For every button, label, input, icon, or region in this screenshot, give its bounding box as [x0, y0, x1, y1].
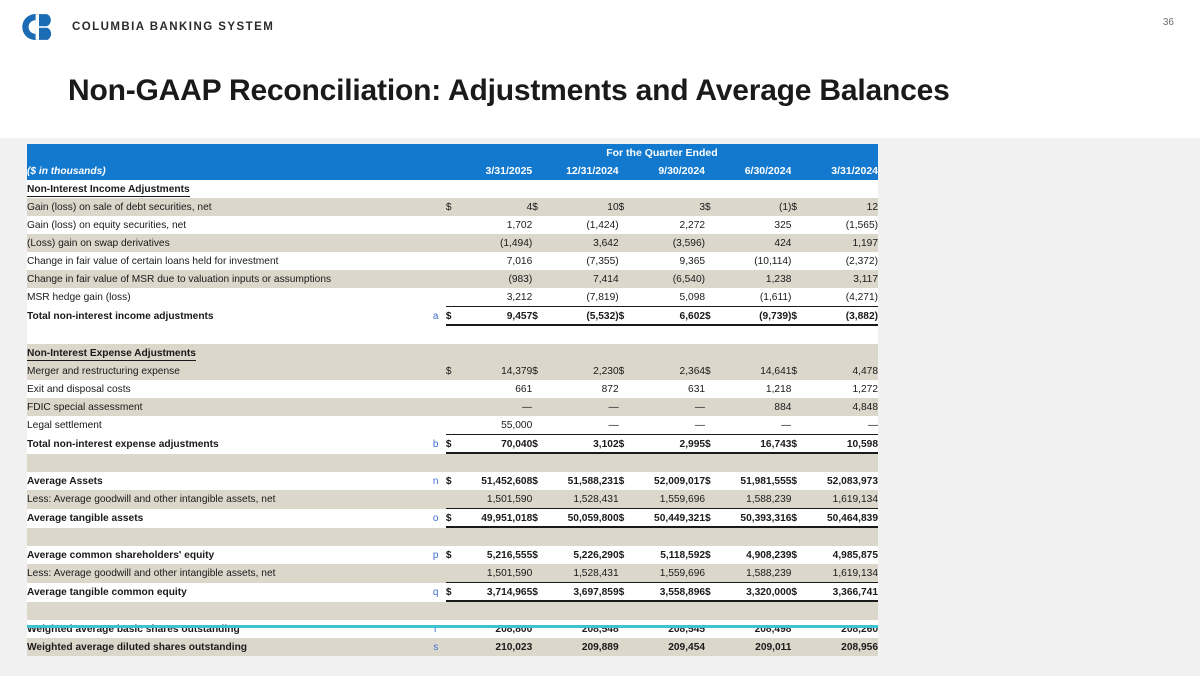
value-cell: 424	[719, 234, 791, 252]
currency-symbol	[705, 638, 719, 656]
currency-symbol	[791, 564, 805, 583]
value-cell: 51,452,608	[460, 472, 532, 490]
column-header-currency-spacer	[619, 162, 633, 180]
table-header-group-row: For the Quarter Ended	[27, 144, 878, 162]
currency-symbol	[532, 234, 546, 252]
value-cell: 2,230	[546, 362, 618, 380]
currency-symbol	[619, 416, 633, 435]
value-cell: 1,238	[719, 270, 791, 288]
value-cell: 16,743	[719, 435, 791, 454]
currency-symbol	[446, 620, 460, 638]
value-cell: (10,114)	[719, 252, 791, 270]
column-header-1: 3/31/2025	[460, 162, 532, 180]
value-cell: 2,995	[633, 435, 705, 454]
currency-symbol: $	[705, 546, 719, 564]
table-row: Gain (loss) on equity securities, net1,7…	[27, 216, 878, 234]
value-cell: 7,414	[546, 270, 618, 288]
currency-symbol	[619, 620, 633, 638]
value-cell: 9,457	[460, 307, 532, 326]
value-cell: 872	[546, 380, 618, 398]
row-reference-letter: b	[426, 435, 446, 454]
currency-symbol: $	[446, 472, 460, 490]
balance-total-row: Average tangible assetso$49,951,018$50,0…	[27, 509, 878, 528]
balance-top-row: Average Assetsn$51,452,608$51,588,231$52…	[27, 472, 878, 490]
currency-symbol: $	[532, 509, 546, 528]
currency-symbol	[791, 270, 805, 288]
currency-symbol: $	[446, 198, 460, 216]
non-gaap-reconciliation-table: For the Quarter Ended($ in thousands)3/3…	[27, 144, 878, 656]
row-reference-letter	[426, 362, 446, 380]
table-header-dates-row: ($ in thousands)3/31/202512/31/20249/30/…	[27, 162, 878, 180]
value-cell: (7,819)	[546, 288, 618, 307]
header-spacer	[27, 144, 426, 162]
value-cell: (1,611)	[719, 288, 791, 307]
table-row: Change in fair value of certain loans he…	[27, 252, 878, 270]
value-cell: (1,494)	[460, 234, 532, 252]
value-cell: 4,848	[806, 398, 878, 416]
row-spacer	[27, 602, 878, 621]
currency-symbol: $	[532, 362, 546, 380]
currency-symbol: $	[619, 583, 633, 602]
value-cell: 1,528,431	[546, 490, 618, 509]
currency-symbol	[705, 380, 719, 398]
value-cell: (1,565)	[806, 216, 878, 234]
value-cell: 3,366,741	[806, 583, 878, 602]
value-cell: 210,023	[460, 638, 532, 656]
currency-symbol	[446, 252, 460, 270]
cb-monogram-icon	[18, 12, 60, 42]
currency-symbol	[791, 416, 805, 435]
value-cell: 1,588,239	[719, 564, 791, 583]
value-cell: 208,956	[806, 638, 878, 656]
row-label: Total non-interest income adjustments	[27, 307, 426, 326]
row-label: FDIC special assessment	[27, 398, 426, 416]
value-cell: 9,365	[633, 252, 705, 270]
table-body: For the Quarter Ended($ in thousands)3/3…	[27, 144, 878, 656]
value-cell: 4,985,875	[806, 546, 878, 564]
value-cell: 2,272	[633, 216, 705, 234]
value-cell: 208,800	[460, 620, 532, 638]
currency-symbol: $	[705, 307, 719, 326]
value-cell: (983)	[460, 270, 532, 288]
column-header-5: 3/31/2024	[806, 162, 878, 180]
value-cell: 208,548	[546, 620, 618, 638]
value-cell: 52,009,017	[633, 472, 705, 490]
section-heading: Non-Interest Expense Adjustments	[27, 344, 426, 362]
currency-symbol	[705, 620, 719, 638]
currency-symbol: $	[705, 583, 719, 602]
row-label: Average common shareholders' equity	[27, 546, 426, 564]
value-cell: 884	[719, 398, 791, 416]
row-reference-letter	[426, 234, 446, 252]
currency-symbol: $	[446, 307, 460, 326]
row-label: Average tangible common equity	[27, 583, 426, 602]
row-reference-letter	[426, 288, 446, 307]
value-cell: (2,372)	[806, 252, 878, 270]
currency-symbol	[619, 564, 633, 583]
row-label: MSR hedge gain (loss)	[27, 288, 426, 307]
currency-symbol	[446, 270, 460, 288]
value-cell: 4,478	[806, 362, 878, 380]
row-reference-letter	[426, 216, 446, 234]
value-cell: 50,393,316	[719, 509, 791, 528]
currency-symbol	[705, 416, 719, 435]
currency-symbol: $	[532, 472, 546, 490]
currency-symbol: $	[446, 546, 460, 564]
currency-symbol	[705, 216, 719, 234]
currency-symbol	[619, 288, 633, 307]
value-cell: 51,981,555	[719, 472, 791, 490]
slide-header: COLUMBIA BANKING SYSTEM 36	[0, 0, 1200, 56]
currency-symbol	[446, 398, 460, 416]
value-cell: 4,908,239	[719, 546, 791, 564]
currency-symbol: $	[619, 435, 633, 454]
slide-root: COLUMBIA BANKING SYSTEM 36 Non-GAAP Reco…	[0, 0, 1200, 676]
currency-symbol: $	[705, 509, 719, 528]
section-heading-text: Non-Interest Income Adjustments	[27, 184, 190, 197]
section-heading-filler	[426, 344, 878, 362]
value-cell: 2,364	[633, 362, 705, 380]
row-label: Gain (loss) on sale of debt securities, …	[27, 198, 426, 216]
row-reference-letter: p	[426, 546, 446, 564]
row-label: Legal settlement	[27, 416, 426, 435]
currency-symbol	[532, 416, 546, 435]
currency-symbol: $	[791, 435, 805, 454]
table-row: (Loss) gain on swap derivatives(1,494)3,…	[27, 234, 878, 252]
value-cell: (7,355)	[546, 252, 618, 270]
column-header-currency-spacer	[532, 162, 546, 180]
row-spacer-cell	[27, 326, 878, 345]
column-header-4: 6/30/2024	[719, 162, 791, 180]
value-cell: 3,102	[546, 435, 618, 454]
row-spacer	[27, 326, 878, 345]
currency-symbol	[619, 234, 633, 252]
value-cell: (1,424)	[546, 216, 618, 234]
row-spacer-cell	[27, 528, 878, 547]
row-spacer	[27, 454, 878, 473]
value-cell: (5,532)	[546, 307, 618, 326]
value-cell: 208,498	[719, 620, 791, 638]
currency-symbol	[532, 288, 546, 307]
row-label: Less: Average goodwill and other intangi…	[27, 490, 426, 509]
currency-symbol: $	[619, 472, 633, 490]
row-label: Average tangible assets	[27, 509, 426, 528]
value-cell: (6,540)	[633, 270, 705, 288]
row-label: Gain (loss) on equity securities, net	[27, 216, 426, 234]
currency-symbol	[532, 398, 546, 416]
balance-top-row: Average common shareholders' equityp$5,2…	[27, 546, 878, 564]
table-row: FDIC special assessment———8844,848	[27, 398, 878, 416]
value-cell: 325	[719, 216, 791, 234]
currency-symbol: $	[619, 198, 633, 216]
value-cell: 12	[806, 198, 878, 216]
currency-symbol	[619, 490, 633, 509]
currency-symbol	[705, 288, 719, 307]
column-header-currency-spacer	[791, 162, 805, 180]
currency-symbol	[619, 380, 633, 398]
currency-symbol: $	[532, 583, 546, 602]
value-cell: (9,739)	[719, 307, 791, 326]
value-cell: (1)	[719, 198, 791, 216]
row-reference-letter	[426, 380, 446, 398]
currency-symbol	[705, 252, 719, 270]
currency-symbol	[791, 490, 805, 509]
row-label: Change in fair value of MSR due to valua…	[27, 270, 426, 288]
value-cell: 3,714,965	[460, 583, 532, 602]
table-bottom-accent-rule	[27, 625, 878, 628]
currency-symbol	[705, 270, 719, 288]
currency-symbol: $	[791, 307, 805, 326]
currency-symbol	[446, 564, 460, 583]
row-label: Less: Average goodwill and other intangi…	[27, 564, 426, 583]
currency-symbol: $	[619, 546, 633, 564]
group-header-label: For the Quarter Ended	[446, 144, 878, 162]
value-cell: 1,501,590	[460, 490, 532, 509]
row-label: Exit and disposal costs	[27, 380, 426, 398]
currency-symbol	[791, 620, 805, 638]
currency-symbol	[532, 252, 546, 270]
row-label: (Loss) gain on swap derivatives	[27, 234, 426, 252]
value-cell: 4	[460, 198, 532, 216]
value-cell: 3,117	[806, 270, 878, 288]
currency-symbol	[791, 288, 805, 307]
page-number: 36	[1163, 17, 1174, 28]
value-cell: —	[546, 398, 618, 416]
currency-symbol: $	[532, 546, 546, 564]
value-cell: 52,083,973	[806, 472, 878, 490]
value-cell: 1,197	[806, 234, 878, 252]
column-header-currency-spacer	[705, 162, 719, 180]
column-header-currency-spacer	[446, 162, 460, 180]
balance-less-row: Less: Average goodwill and other intangi…	[27, 564, 878, 583]
header-spacer-ref	[426, 144, 446, 162]
currency-symbol: $	[705, 362, 719, 380]
page-title: Non-GAAP Reconciliation: Adjustments and…	[68, 74, 950, 108]
currency-symbol: $	[446, 509, 460, 528]
section-heading-row: Non-Interest Expense Adjustments	[27, 344, 878, 362]
brand-name: COLUMBIA BANKING SYSTEM	[72, 21, 274, 33]
currency-symbol	[705, 398, 719, 416]
value-cell: 5,226,290	[546, 546, 618, 564]
currency-symbol	[532, 490, 546, 509]
value-cell: 3,320,000	[719, 583, 791, 602]
value-cell: 1,619,134	[806, 490, 878, 509]
value-cell: 1,702	[460, 216, 532, 234]
table-row: Merger and restructuring expense$14,379$…	[27, 362, 878, 380]
row-reference-letter: a	[426, 307, 446, 326]
row-spacer-cell	[27, 602, 878, 621]
value-cell: 14,641	[719, 362, 791, 380]
row-reference-letter	[426, 252, 446, 270]
value-cell: 50,059,800	[546, 509, 618, 528]
value-cell: 1,528,431	[546, 564, 618, 583]
value-cell: —	[806, 416, 878, 435]
currency-symbol	[446, 638, 460, 656]
row-reference-letter: s	[426, 638, 446, 656]
currency-symbol	[791, 252, 805, 270]
section-heading: Non-Interest Income Adjustments	[27, 180, 426, 198]
value-cell: 1,619,134	[806, 564, 878, 583]
currency-symbol: $	[446, 362, 460, 380]
section-total-row: Total non-interest expense adjustmentsb$…	[27, 435, 878, 454]
currency-symbol	[791, 216, 805, 234]
currency-symbol	[532, 620, 546, 638]
section-heading-row: Non-Interest Income Adjustments	[27, 180, 878, 198]
share-count-row: Weighted average diluted shares outstand…	[27, 638, 878, 656]
currency-symbol: $	[532, 435, 546, 454]
currency-symbol: $	[705, 435, 719, 454]
value-cell: 50,449,321	[633, 509, 705, 528]
value-cell: 3,697,859	[546, 583, 618, 602]
currency-symbol: $	[619, 307, 633, 326]
currency-symbol	[619, 216, 633, 234]
currency-symbol: $	[705, 472, 719, 490]
currency-symbol: $	[791, 362, 805, 380]
currency-symbol	[446, 216, 460, 234]
value-cell: 3,642	[546, 234, 618, 252]
section-total-row: Total non-interest income adjustmentsa$9…	[27, 307, 878, 326]
value-cell: (3,596)	[633, 234, 705, 252]
row-reference-letter	[426, 398, 446, 416]
currency-symbol	[619, 270, 633, 288]
currency-symbol	[619, 398, 633, 416]
currency-symbol: $	[791, 509, 805, 528]
currency-symbol: $	[532, 198, 546, 216]
currency-symbol	[791, 380, 805, 398]
currency-symbol	[705, 564, 719, 583]
currency-symbol: $	[791, 583, 805, 602]
row-reference-letter: o	[426, 509, 446, 528]
value-cell: 7,016	[460, 252, 532, 270]
row-label: Change in fair value of certain loans he…	[27, 252, 426, 270]
share-count-row: Weighted average basic shares outstandin…	[27, 620, 878, 638]
row-reference-letter	[426, 416, 446, 435]
units-note: ($ in thousands)	[27, 162, 426, 180]
currency-symbol	[791, 398, 805, 416]
currency-symbol	[705, 490, 719, 509]
currency-symbol	[532, 638, 546, 656]
column-header-2: 12/31/2024	[546, 162, 618, 180]
value-cell: —	[546, 416, 618, 435]
value-cell: 6,602	[633, 307, 705, 326]
currency-symbol	[619, 638, 633, 656]
currency-symbol	[532, 270, 546, 288]
currency-symbol	[446, 416, 460, 435]
table-row: Change in fair value of MSR due to valua…	[27, 270, 878, 288]
value-cell: 10,598	[806, 435, 878, 454]
value-cell: 208,260	[806, 620, 878, 638]
value-cell: 209,011	[719, 638, 791, 656]
row-reference-letter	[426, 490, 446, 509]
balance-less-row: Less: Average goodwill and other intangi…	[27, 490, 878, 509]
value-cell: —	[633, 416, 705, 435]
row-spacer	[27, 528, 878, 547]
row-reference-letter: r	[426, 620, 446, 638]
value-cell: (4,271)	[806, 288, 878, 307]
currency-symbol: $	[619, 509, 633, 528]
financial-table-container: For the Quarter Ended($ in thousands)3/3…	[27, 144, 878, 656]
row-spacer-cell	[27, 454, 878, 473]
currency-symbol: $	[791, 472, 805, 490]
balance-total-row: Average tangible common equityq$3,714,96…	[27, 583, 878, 602]
value-cell: (3,882)	[806, 307, 878, 326]
table-row: Legal settlement55,000————	[27, 416, 878, 435]
value-cell: 209,889	[546, 638, 618, 656]
currency-symbol	[791, 638, 805, 656]
section-heading-filler	[426, 180, 878, 198]
currency-symbol: $	[532, 307, 546, 326]
value-cell: 70,040	[460, 435, 532, 454]
value-cell: 50,464,839	[806, 509, 878, 528]
value-cell: 49,951,018	[460, 509, 532, 528]
header-spacer-ref	[426, 162, 446, 180]
value-cell: 55,000	[460, 416, 532, 435]
value-cell: —	[633, 398, 705, 416]
value-cell: 3,212	[460, 288, 532, 307]
value-cell: 5,098	[633, 288, 705, 307]
row-label: Weighted average diluted shares outstand…	[27, 638, 426, 656]
currency-symbol	[446, 490, 460, 509]
currency-symbol: $	[446, 435, 460, 454]
brand-lockup: COLUMBIA BANKING SYSTEM	[18, 12, 274, 42]
value-cell: —	[460, 398, 532, 416]
currency-symbol: $	[619, 362, 633, 380]
value-cell: 661	[460, 380, 532, 398]
table-row: Exit and disposal costs6618726311,2181,2…	[27, 380, 878, 398]
value-cell: 51,588,231	[546, 472, 618, 490]
currency-symbol: $	[705, 198, 719, 216]
row-reference-letter	[426, 198, 446, 216]
value-cell: 1,272	[806, 380, 878, 398]
currency-symbol: $	[446, 583, 460, 602]
value-cell: 3,558,896	[633, 583, 705, 602]
value-cell: 3	[633, 198, 705, 216]
value-cell: —	[719, 416, 791, 435]
value-cell: 5,118,592	[633, 546, 705, 564]
currency-symbol	[705, 234, 719, 252]
row-label: Merger and restructuring expense	[27, 362, 426, 380]
value-cell: 14,379	[460, 362, 532, 380]
currency-symbol	[446, 380, 460, 398]
column-header-3: 9/30/2024	[633, 162, 705, 180]
value-cell: 1,501,590	[460, 564, 532, 583]
currency-symbol: $	[791, 546, 805, 564]
currency-symbol	[532, 216, 546, 234]
row-label: Average Assets	[27, 472, 426, 490]
section-heading-text: Non-Interest Expense Adjustments	[27, 348, 196, 361]
value-cell: 208,545	[633, 620, 705, 638]
currency-symbol: $	[791, 198, 805, 216]
row-reference-letter	[426, 564, 446, 583]
currency-symbol	[532, 380, 546, 398]
value-cell: 5,216,555	[460, 546, 532, 564]
value-cell: 209,454	[633, 638, 705, 656]
value-cell: 10	[546, 198, 618, 216]
currency-symbol	[619, 252, 633, 270]
value-cell: 1,559,696	[633, 490, 705, 509]
row-reference-letter: q	[426, 583, 446, 602]
value-cell: 1,218	[719, 380, 791, 398]
currency-symbol	[532, 564, 546, 583]
row-label: Weighted average basic shares outstandin…	[27, 620, 426, 638]
table-row: Gain (loss) on sale of debt securities, …	[27, 198, 878, 216]
row-reference-letter: n	[426, 472, 446, 490]
value-cell: 631	[633, 380, 705, 398]
row-reference-letter	[426, 270, 446, 288]
value-cell: 1,588,239	[719, 490, 791, 509]
currency-symbol	[791, 234, 805, 252]
currency-symbol	[446, 288, 460, 307]
